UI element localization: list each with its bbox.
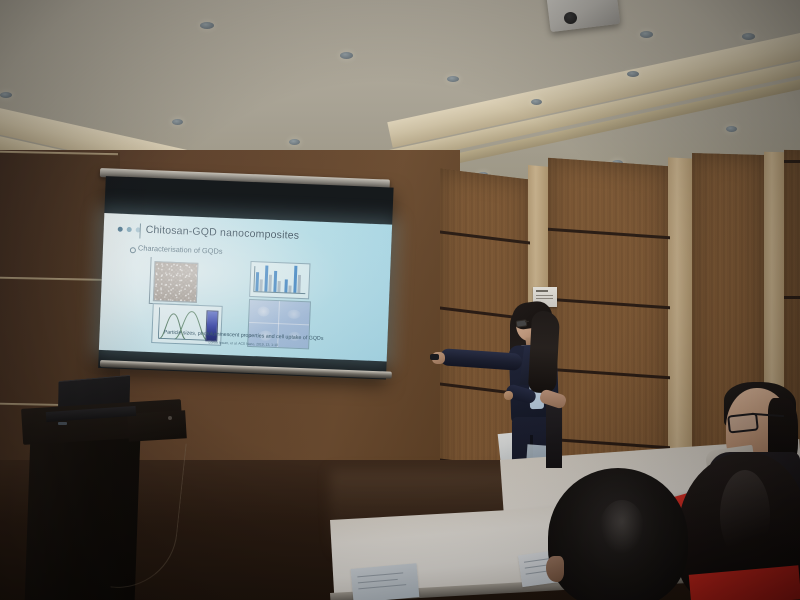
projector-lens-icon bbox=[564, 12, 577, 24]
hair-highlight bbox=[720, 470, 770, 560]
slide-dot-1 bbox=[118, 227, 123, 232]
bar bbox=[268, 275, 272, 292]
glasses-icon bbox=[727, 412, 759, 433]
panel-reveal-line bbox=[784, 296, 800, 299]
conference-room-photo: Chitosan-GQD nanocomposites Characterisa… bbox=[0, 0, 800, 600]
paper-text-line bbox=[358, 584, 406, 589]
presenter-hair-front bbox=[528, 310, 560, 393]
cell-glow bbox=[287, 309, 300, 319]
slide-title: Chitosan-GQD nanocomposites bbox=[145, 224, 375, 245]
particle-size-bar-chart bbox=[249, 261, 310, 299]
hair-highlight bbox=[600, 500, 644, 554]
downlight-icon bbox=[640, 31, 653, 38]
audience-member-center-ear bbox=[546, 556, 564, 582]
audience-member-standing-leg bbox=[546, 398, 562, 468]
downlight-icon bbox=[447, 76, 459, 82]
slide-dot-2 bbox=[127, 227, 132, 232]
cell-glow bbox=[257, 306, 269, 316]
tem-micrograph-figure bbox=[153, 261, 199, 303]
projection-screen[interactable]: Chitosan-GQD nanocomposites Characterisa… bbox=[98, 176, 393, 379]
downlight-icon bbox=[289, 139, 300, 145]
downlight-icon bbox=[200, 22, 214, 29]
downlight-icon bbox=[0, 92, 12, 98]
presenter-second-hand bbox=[504, 391, 513, 400]
slide-bullet-marker-icon bbox=[130, 247, 136, 253]
downlight-icon bbox=[742, 33, 755, 40]
bar bbox=[297, 275, 301, 293]
paper-text-line bbox=[358, 579, 398, 583]
downlight-icon bbox=[172, 119, 183, 125]
downlight-icon bbox=[340, 52, 353, 59]
paper-sheet bbox=[351, 563, 420, 600]
slide-bullet-text: Characterisation of GQDs bbox=[138, 243, 223, 255]
downlight-icon bbox=[627, 71, 639, 77]
bar bbox=[284, 279, 288, 292]
bar bbox=[277, 281, 280, 292]
projected-slide: Chitosan-GQD nanocomposites Characterisa… bbox=[99, 213, 392, 361]
paper-text-line bbox=[357, 572, 403, 577]
laptop-indicator-icon bbox=[58, 422, 67, 425]
presentation-remote[interactable] bbox=[430, 354, 439, 360]
slide-title-divider bbox=[139, 223, 141, 238]
panel-reveal-line bbox=[784, 160, 800, 163]
tem-axis-left bbox=[149, 257, 152, 303]
lectern-knob[interactable] bbox=[168, 416, 172, 420]
panel-divider-horizontal bbox=[249, 322, 309, 325]
bar bbox=[259, 279, 262, 291]
wall-sign-text-line bbox=[536, 290, 548, 292]
